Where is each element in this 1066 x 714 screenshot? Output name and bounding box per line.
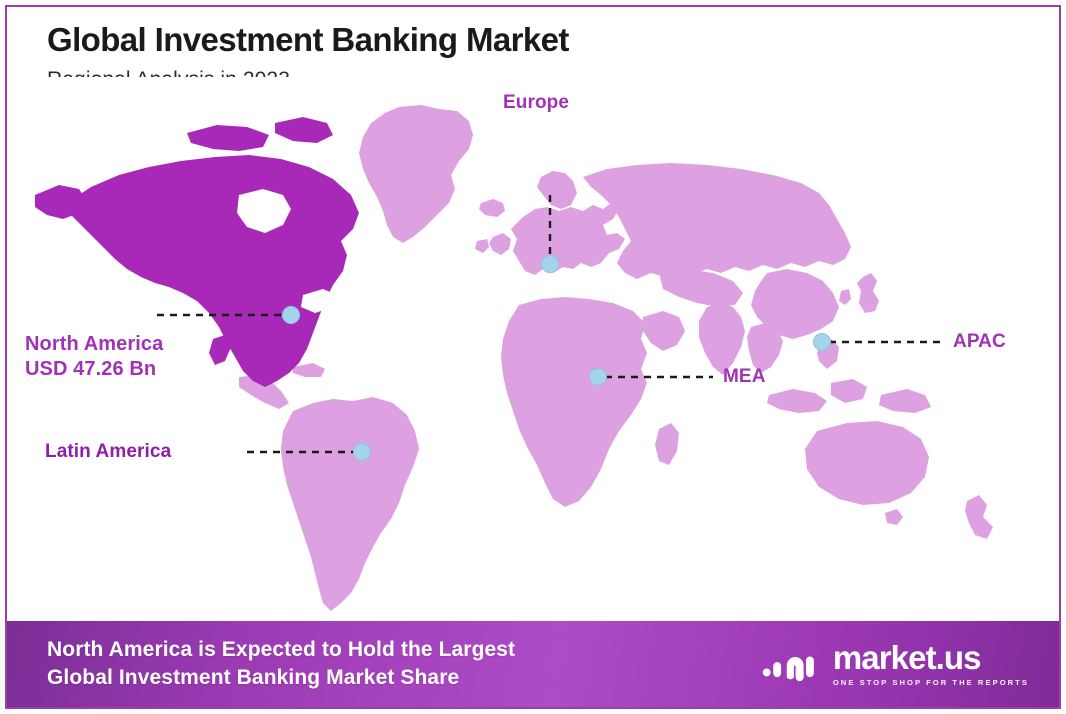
world-map-graphic <box>7 77 1061 622</box>
footer-banner: North America is Expected to Hold the La… <box>7 621 1061 707</box>
marker-dot-north-america <box>283 307 300 324</box>
logo-tagline: ONE STOP SHOP FOR THE REPORTS <box>833 678 1029 687</box>
logo-wordmark: market.us <box>833 641 1029 674</box>
marker-dot-latin-america <box>354 444 371 461</box>
infographic-frame: Global Investment Banking Market Regiona… <box>5 5 1061 709</box>
marker-dot-europe <box>542 256 559 273</box>
region-label-north-america[interactable]: North America USD 47.26 Bn <box>25 332 163 382</box>
market-us-logo-mark <box>762 643 820 685</box>
footer-headline-line2: Global Investment Banking Market Share <box>47 664 515 692</box>
region-label-europe[interactable]: Europe <box>503 91 569 115</box>
footer-headline: North America is Expected to Hold the La… <box>47 636 515 691</box>
world-map-container: North America USD 47.26 Bn Europe APAC M… <box>7 77 1061 622</box>
marker-dot-mea <box>590 369 607 386</box>
market-us-logo[interactable]: market.us ONE STOP SHOP FOR THE REPORTS <box>762 641 1029 687</box>
page-title: Global Investment Banking Market <box>47 22 807 59</box>
footer-headline-line1: North America is Expected to Hold the La… <box>47 636 515 664</box>
region-label-mea[interactable]: MEA <box>723 365 766 389</box>
region-label-apac[interactable]: APAC <box>953 330 1006 354</box>
region-label-north-america-name: North America <box>25 333 163 355</box>
region-label-latin-america[interactable]: Latin America <box>45 440 171 464</box>
market-us-logo-text: market.us ONE STOP SHOP FOR THE REPORTS <box>833 641 1029 687</box>
marker-dot-apac <box>814 334 831 351</box>
region-label-north-america-value: USD 47.26 Bn <box>25 358 156 380</box>
